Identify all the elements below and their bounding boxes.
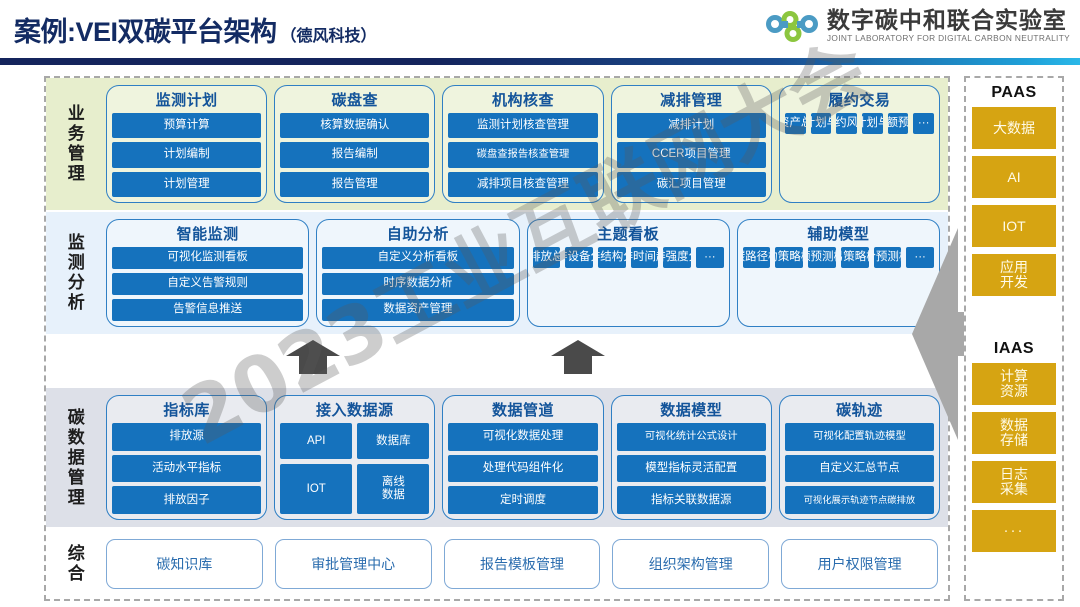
page-subtitle: （德风科技） [281, 22, 377, 46]
iaas-section: IAAS 计算 资源数据 存储日志 采集··· [972, 340, 1056, 559]
group-item[interactable]: 碳排结构分析 [598, 247, 626, 268]
group-item[interactable]: 报告管理 [280, 172, 429, 197]
layer-label-carbon-data: 碳数据管理 [46, 388, 102, 527]
paas-heading: PAAS [972, 84, 1056, 102]
group-item-list: 碳资产总览履约计划与执行履约风险交易计划与执行配额预测··· [785, 113, 934, 197]
group-title: 履约交易 [785, 88, 934, 113]
group-card[interactable]: 数据模型可视化统计公式设计模型指标灵活配置指标关联数据源 [611, 395, 772, 520]
group-title: 监测计划 [112, 88, 261, 113]
group-title: 主题看板 [533, 222, 724, 247]
group-item[interactable]: API [280, 423, 352, 459]
group-item[interactable]: 配额预测 [888, 113, 909, 134]
side-item-paas[interactable]: AI [972, 156, 1056, 198]
layer-label-business: 业务管理 [46, 78, 102, 210]
group-item-list: 可视化监测看板自定义告警规则告警信息推送 [112, 247, 303, 321]
group-item[interactable]: 核算数据确认 [280, 113, 429, 138]
general-items-row: 碳知识库审批管理中心报告模板管理组织架构管理用户权限管理 [102, 529, 948, 599]
group-item[interactable]: ··· [696, 247, 724, 268]
group-item[interactable]: 碳价预测模型 [874, 247, 902, 268]
up-arrow-icon-right [551, 340, 605, 374]
group-item-list: 可视化统计公式设计模型指标灵活配置指标关联数据源 [617, 423, 766, 514]
group-item[interactable]: 可视化监测看板 [112, 247, 303, 269]
group-card[interactable]: 减排管理减排计划CCER项目管理碳汇项目管理 [611, 85, 772, 203]
group-item[interactable]: 碳资产总览 [785, 113, 806, 134]
group-title: 数据管道 [448, 398, 597, 423]
general-item[interactable]: 碳知识库 [106, 539, 263, 589]
group-item[interactable]: 可视化数据处理 [448, 423, 597, 451]
group-item[interactable]: 配额预测模型 [808, 247, 836, 268]
side-item-iaas[interactable]: 日志 采集 [972, 461, 1056, 503]
general-item[interactable]: 报告模板管理 [444, 539, 601, 589]
layer-carbon-data-management: 碳数据管理指标库排放源活动水平指标排放因子接入数据源API数据库IOT离线 数据… [46, 388, 948, 527]
paas-section: PAAS 大数据AIIOT应用 开发 [972, 84, 1056, 303]
group-item[interactable]: 监测计划核查管理 [448, 113, 597, 138]
group-title: 碳盘查 [280, 88, 429, 113]
group-item[interactable]: 计划编制 [112, 142, 261, 167]
group-title: 接入数据源 [280, 398, 429, 423]
side-item-paas[interactable]: IOT [972, 205, 1056, 247]
group-item[interactable]: 计划管理 [112, 172, 261, 197]
group-item[interactable]: 自定义汇总节点 [785, 455, 934, 483]
group-item[interactable]: 活动水平指标 [112, 455, 261, 483]
group-item[interactable]: 碳排放总览 [533, 247, 561, 268]
group-title: 智能监测 [112, 222, 303, 247]
group-item[interactable]: 模型指标灵活配置 [617, 455, 766, 483]
group-card[interactable]: 指标库排放源活动水平指标排放因子 [106, 395, 267, 520]
group-item[interactable]: 碳排强度分析 [663, 247, 691, 268]
brand-logo: 数字碳中和联合实验室 JOINT LABORATORY FOR DIGITAL … [763, 8, 1070, 43]
group-item[interactable]: 零碳路径模型 [743, 247, 771, 268]
group-item[interactable]: 自定义分析看板 [322, 247, 513, 269]
group-item[interactable]: 预算计算 [112, 113, 261, 138]
group-item[interactable]: 碳盘查报告核查管理 [448, 142, 597, 167]
group-card[interactable]: 辅助模型零碳路径模型履约策略模型配额预测模型交易策略模型碳价预测模型··· [737, 219, 940, 327]
group-item[interactable]: 交易计划与执行 [862, 113, 883, 134]
group-item[interactable]: IOT [280, 464, 352, 514]
group-item[interactable]: 碳排时间趋势 [631, 247, 659, 268]
side-item-iaas[interactable]: ··· [972, 510, 1056, 552]
group-item[interactable]: 排放源 [112, 423, 261, 451]
group-item-list: 排放源活动水平指标排放因子 [112, 423, 261, 514]
group-item[interactable]: 处理代码组件化 [448, 455, 597, 483]
group-title: 减排管理 [617, 88, 766, 113]
layer-label-general: 综合 [46, 529, 102, 599]
side-item-paas[interactable]: 应用 开发 [972, 254, 1056, 296]
logo-name-cn: 数字碳中和联合实验室 [827, 8, 1070, 32]
group-card[interactable]: 自助分析自定义分析看板时序数据分析数据资产管理 [316, 219, 519, 327]
page-header: 案例:VEI双碳平台架构 （德风科技） 数字碳中和联合实验室 JOINT LAB… [0, 0, 1080, 62]
left-arrow-icon-infrastructure [912, 228, 964, 440]
layer-groups: 智能监测可视化监测看板自定义告警规则告警信息推送自助分析自定义分析看板时序数据分… [102, 212, 948, 334]
layer-general: 综合 碳知识库审批管理中心报告模板管理组织架构管理用户权限管理 [46, 529, 948, 599]
group-item[interactable]: 碳排设备分布 [565, 247, 593, 268]
up-arrow-icon-left [286, 340, 340, 374]
iaas-items: 计算 资源数据 存储日志 采集··· [972, 363, 1056, 559]
group-item-list: 核算数据确认报告编制报告管理 [280, 113, 429, 197]
group-item-list: 减排计划CCER项目管理碳汇项目管理 [617, 113, 766, 197]
group-item[interactable]: CCER项目管理 [617, 142, 766, 167]
group-item-list: 监测计划核查管理碳盘查报告核查管理减排项目核查管理 [448, 113, 597, 197]
group-card[interactable]: 履约交易碳资产总览履约计划与执行履约风险交易计划与执行配额预测··· [779, 85, 940, 203]
group-item[interactable]: 减排项目核查管理 [448, 172, 597, 197]
group-item[interactable]: 交易策略模型 [841, 247, 869, 268]
group-item[interactable]: 减排计划 [617, 113, 766, 138]
layer-monitoring-analysis: 监测分析智能监测可视化监测看板自定义告警规则告警信息推送自助分析自定义分析看板时… [46, 212, 948, 334]
logo-text-block: 数字碳中和联合实验室 JOINT LABORATORY FOR DIGITAL … [827, 8, 1070, 43]
group-card[interactable]: 数据管道可视化数据处理处理代码组件化定时调度 [442, 395, 603, 520]
group-item[interactable]: 告警信息推送 [112, 299, 303, 321]
group-card[interactable]: 碳盘查核算数据确认报告编制报告管理 [274, 85, 435, 203]
group-item[interactable]: 可视化统计公式设计 [617, 423, 766, 451]
group-item[interactable]: ··· [913, 113, 934, 134]
logo-flower-icon [763, 9, 821, 43]
group-item[interactable]: 时序数据分析 [322, 273, 513, 295]
group-item[interactable]: 履约风险 [836, 113, 857, 134]
group-title: 辅助模型 [743, 222, 934, 247]
general-item[interactable]: 审批管理中心 [275, 539, 432, 589]
group-item-list: 预算计算计划编制计划管理 [112, 113, 261, 197]
header-divider-bar [0, 58, 1080, 65]
group-title: 数据模型 [617, 398, 766, 423]
side-item-iaas[interactable]: 数据 存储 [972, 412, 1056, 454]
title-group: 案例:VEI双碳平台架构 （德风科技） [14, 10, 377, 49]
group-card[interactable]: 主题看板碳排放总览碳排设备分布碳排结构分析碳排时间趋势碳排强度分析··· [527, 219, 730, 327]
iaas-heading: IAAS [972, 340, 1056, 358]
group-item[interactable]: 报告编制 [280, 142, 429, 167]
group-item[interactable]: 履约计划与执行 [811, 113, 832, 134]
group-item-list: 可视化数据处理处理代码组件化定时调度 [448, 423, 597, 514]
paas-items: 大数据AIIOT应用 开发 [972, 107, 1056, 303]
layer-label-monitoring: 监测分析 [46, 212, 102, 334]
general-item[interactable]: 用户权限管理 [781, 539, 938, 589]
side-item-paas[interactable]: 大数据 [972, 107, 1056, 149]
group-item[interactable]: 指标关联数据源 [617, 486, 766, 514]
group-card[interactable]: 机构核查监测计划核查管理碳盘查报告核查管理减排项目核查管理 [442, 85, 603, 203]
group-item[interactable]: 数据库 [357, 423, 429, 459]
logo-name-en: JOINT LABORATORY FOR DIGITAL CARBON NEUT… [827, 33, 1070, 43]
group-item[interactable]: 可视化展示轨迹节点碳排放 [785, 486, 934, 514]
group-item[interactable]: 定时调度 [448, 486, 597, 514]
layer-business-management: 业务管理监测计划预算计算计划编制计划管理碳盘查核算数据确认报告编制报告管理机构核… [46, 78, 948, 210]
group-item[interactable]: 离线 数据 [357, 464, 429, 514]
group-item[interactable]: 履约策略模型 [775, 247, 803, 268]
group-item-list: 零碳路径模型履约策略模型配额预测模型交易策略模型碳价预测模型··· [743, 247, 934, 321]
group-title: 自助分析 [322, 222, 513, 247]
side-item-iaas[interactable]: 计算 资源 [972, 363, 1056, 405]
architecture-diagram: 业务管理监测计划预算计算计划编制计划管理碳盘查核算数据确认报告编制报告管理机构核… [0, 68, 1080, 607]
group-item-list: 自定义分析看板时序数据分析数据资产管理 [322, 247, 513, 321]
group-item-list: 碳排放总览碳排设备分布碳排结构分析碳排时间趋势碳排强度分析··· [533, 247, 724, 321]
group-title: 机构核查 [448, 88, 597, 113]
group-item[interactable]: 自定义告警规则 [112, 273, 303, 295]
group-card[interactable]: 监测计划预算计算计划编制计划管理 [106, 85, 267, 203]
layer-groups: 指标库排放源活动水平指标排放因子接入数据源API数据库IOT离线 数据数据管道可… [102, 388, 948, 527]
layer-groups: 监测计划预算计算计划编制计划管理碳盘查核算数据确认报告编制报告管理机构核查监测计… [102, 78, 948, 210]
page-title: 案例:VEI双碳平台架构 [14, 10, 277, 49]
group-item[interactable]: 数据资产管理 [322, 299, 513, 321]
group-card[interactable]: 接入数据源API数据库IOT离线 数据 [274, 395, 435, 520]
group-item-list: API数据库IOT离线 数据 [280, 423, 429, 514]
group-title: 指标库 [112, 398, 261, 423]
group-item[interactable]: 碳汇项目管理 [617, 172, 766, 197]
general-item[interactable]: 组织架构管理 [612, 539, 769, 589]
group-item[interactable]: 排放因子 [112, 486, 261, 514]
group-card[interactable]: 智能监测可视化监测看板自定义告警规则告警信息推送 [106, 219, 309, 327]
